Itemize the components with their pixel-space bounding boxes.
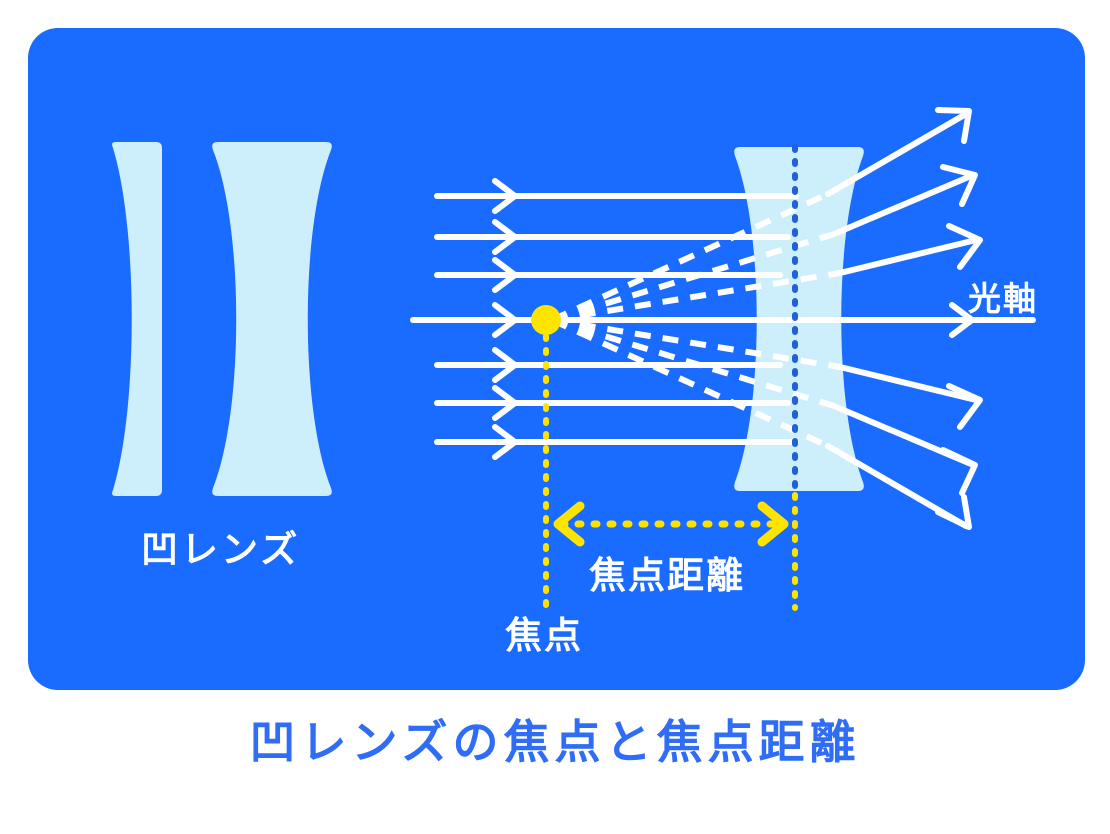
page-caption: 凹レンズの焦点と焦点距離	[0, 715, 1110, 770]
lens-icons-group	[112, 142, 332, 496]
incoming-ray-5	[437, 350, 780, 380]
concave-lens-label: 凹レンズ	[141, 528, 300, 570]
incoming-ray-1	[437, 181, 796, 211]
optics-diagram: 凹レンズ	[28, 28, 1085, 690]
incoming-ray-7	[437, 427, 796, 457]
focal-point-label: 焦点	[505, 615, 583, 656]
focal-length-dimension	[558, 506, 784, 542]
incoming-ray-3	[437, 260, 780, 290]
outgoing-ray-3	[840, 226, 980, 273]
plano-concave-lens-shape	[112, 142, 162, 496]
diagram-root: 凹レンズ	[0, 0, 1110, 834]
diagram-card: 凹レンズ	[28, 28, 1085, 690]
focal-point-dot	[531, 305, 561, 335]
incoming-ray-axis	[413, 305, 548, 335]
focal-length-label: 焦点距離	[589, 555, 745, 596]
optical-axis-label: 光軸	[968, 280, 1038, 317]
biconcave-lens-shape	[212, 142, 332, 496]
